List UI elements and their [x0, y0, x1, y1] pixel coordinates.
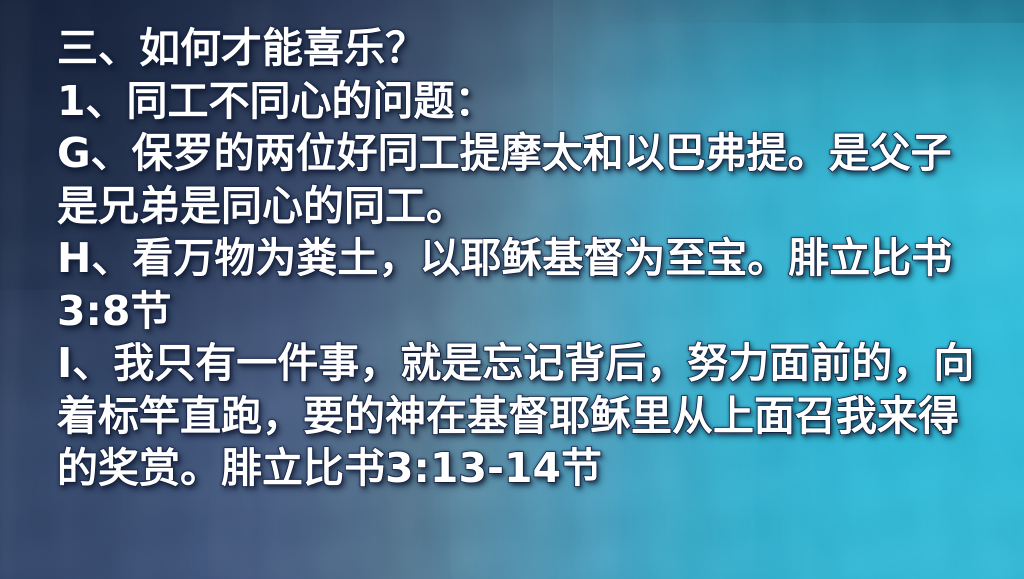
slide-heading-3: 三、如何才能喜乐？ [57, 22, 980, 75]
slide-point-h: H、看万物为粪土，以耶稣基督为至宝。腓立比书3:8节 [57, 232, 980, 337]
slide-text-body: 三、如何才能喜乐？ 1、同工不同心的问题： G、保罗的两位好同工提摩太和以巴弗提… [0, 0, 1024, 495]
presentation-slide: 三、如何才能喜乐？ 1、同工不同心的问题： G、保罗的两位好同工提摩太和以巴弗提… [0, 0, 1024, 579]
slide-point-1: 1、同工不同心的问题： [57, 75, 980, 128]
slide-point-i: I、我只有一件事，就是忘记背后，努力面前的，向着标竿直跑，要的神在基督耶稣里从上… [57, 337, 980, 495]
slide-point-g: G、保罗的两位好同工提摩太和以巴弗提。是父子是兄弟是同心的同工。 [57, 127, 980, 232]
